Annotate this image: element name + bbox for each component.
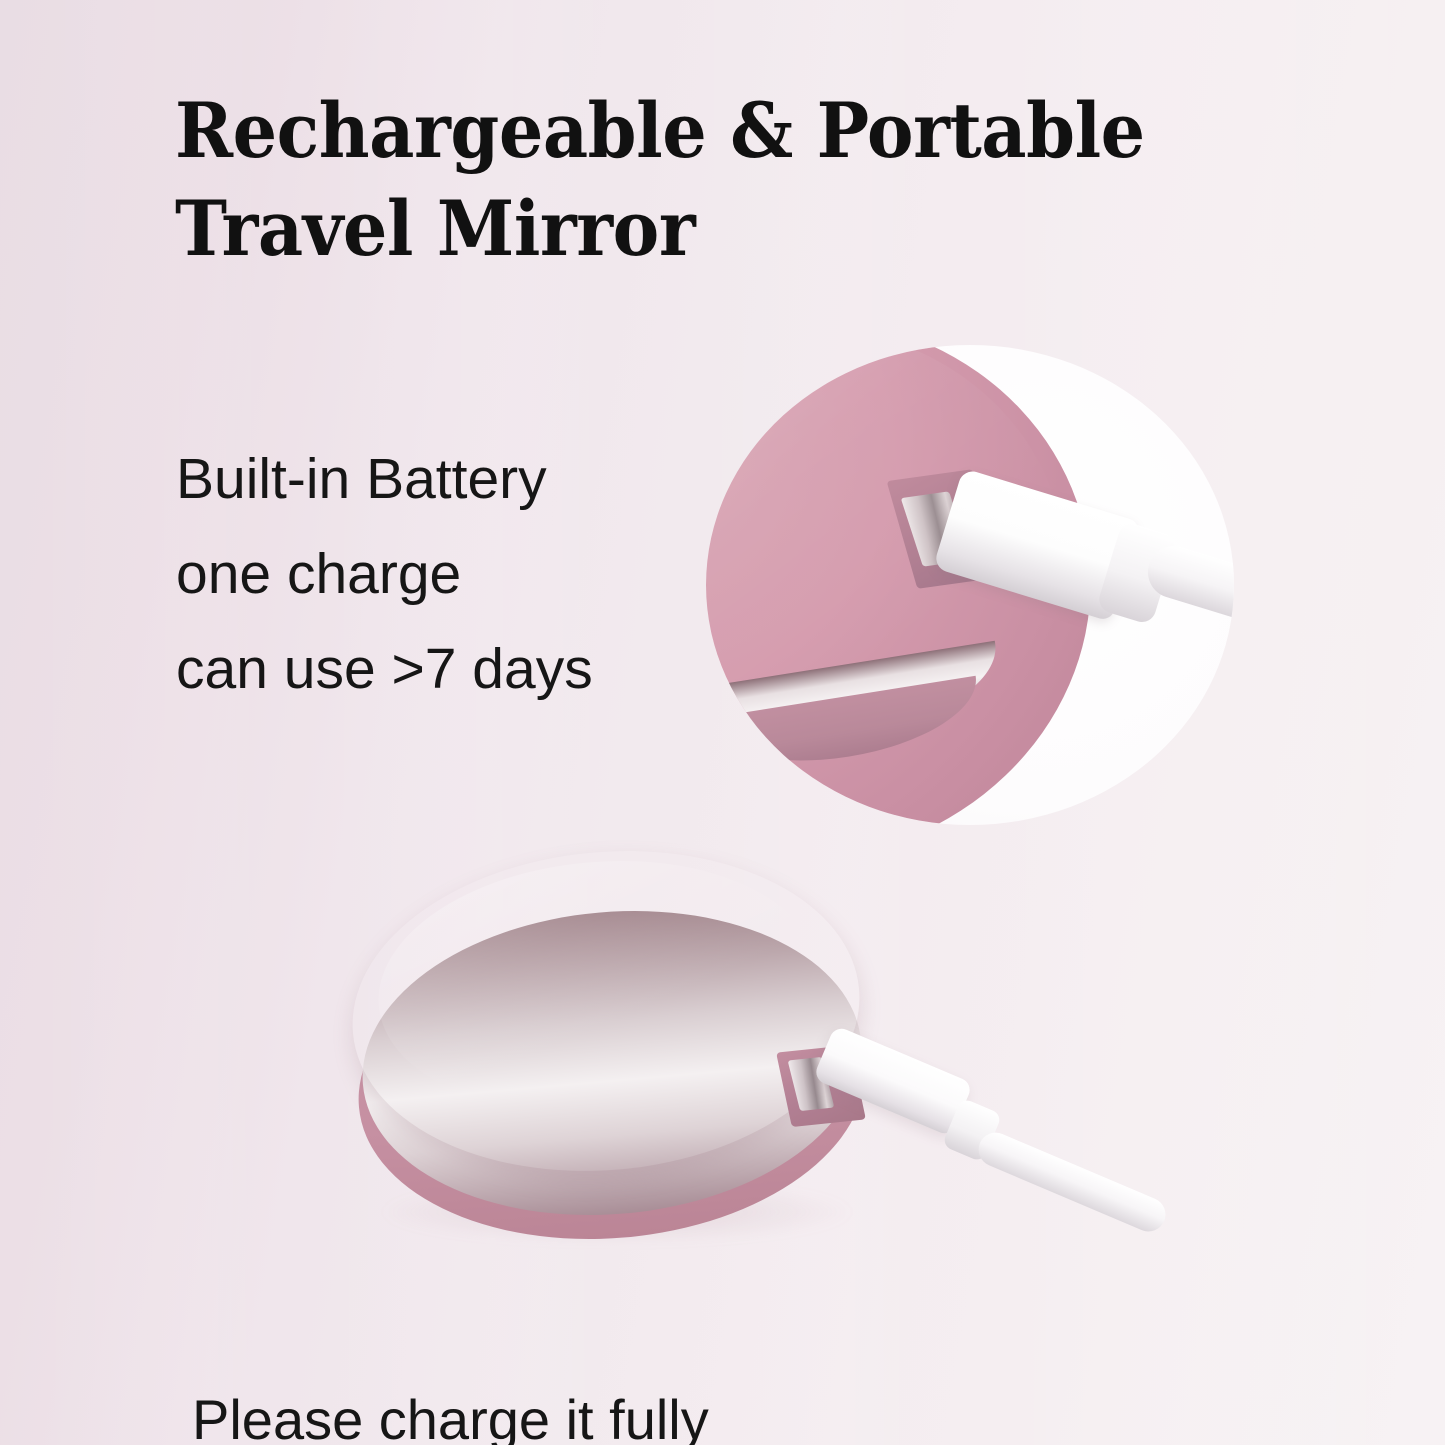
product-marketing-image: Rechargeable & Portable Travel Mirror Bu… — [0, 0, 1445, 1445]
usage-instruction: Please charge it fully before your first… — [192, 1246, 716, 1445]
inset-charging-cable — [1141, 540, 1234, 631]
charging-port-closeup-photo — [706, 345, 1234, 825]
usage-instruction-line1: Please charge it fully — [192, 1388, 709, 1445]
compact-mirror-photo — [352, 852, 876, 1248]
feature-description: Built-in Battery one charge can use >7 d… — [176, 432, 593, 717]
charging-cable — [973, 1127, 1170, 1236]
page-title: Rechargeable & Portable Travel Mirror — [175, 82, 1242, 278]
